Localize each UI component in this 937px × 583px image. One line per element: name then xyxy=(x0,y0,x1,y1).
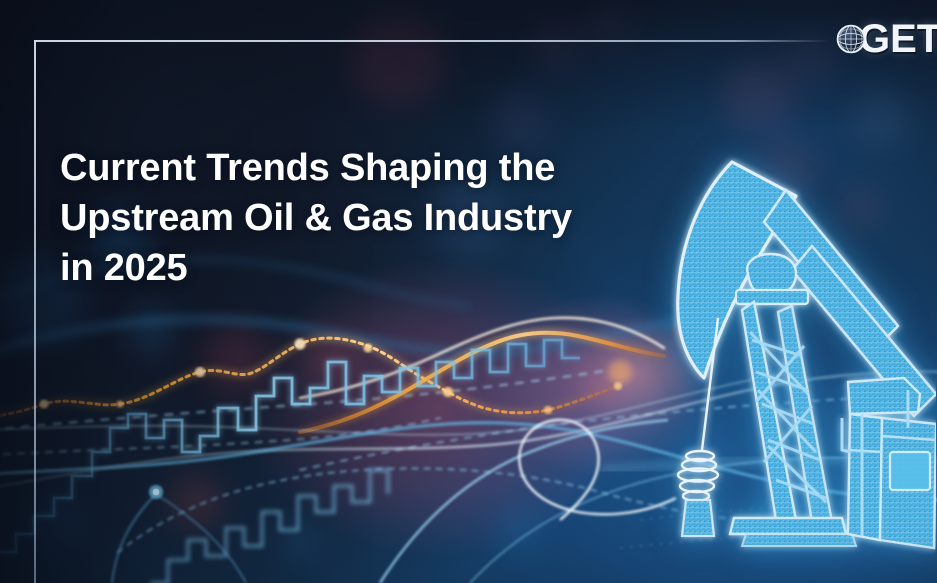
page-title: Current Trends Shaping the Upstream Oil … xyxy=(60,143,680,293)
brand-logo-text: GET xyxy=(859,19,937,59)
frame-left-line xyxy=(34,40,36,583)
brand-logo[interactable]: GET xyxy=(836,18,937,60)
frame-top-line xyxy=(34,40,830,42)
banner-image: Current Trends Shaping the Upstream Oil … xyxy=(0,0,937,583)
globe-icon xyxy=(836,24,866,54)
